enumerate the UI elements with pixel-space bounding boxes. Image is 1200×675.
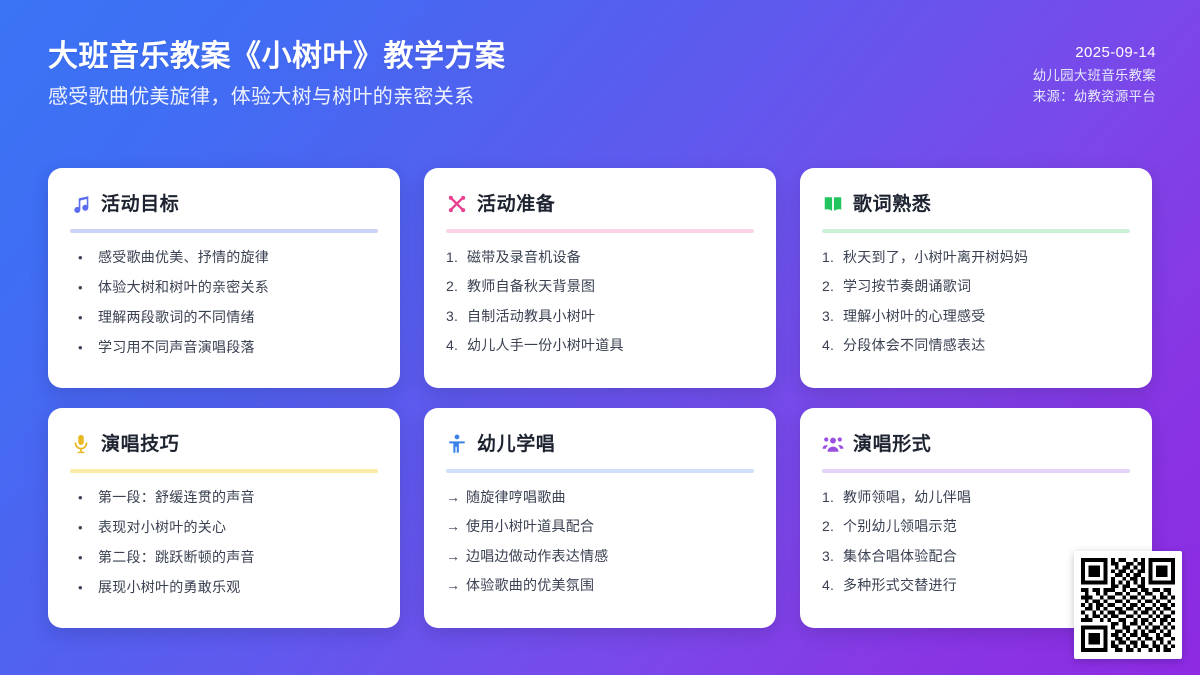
list-item-text: 多种形式交替进行 [843, 575, 957, 595]
card-4: 演唱技巧第一段：舒缓连贯的声音表现对小树叶的关心第二段：跳跃断顿的声音展现小树叶… [48, 408, 400, 628]
child-person-icon [446, 433, 468, 455]
card-header: 歌词熟悉 [822, 190, 1130, 218]
card-title: 活动目标 [101, 195, 179, 214]
card-grid: 活动目标感受歌曲优美、抒情的旋律体验大树和树叶的亲密关系理解两段歌词的不同情绪学… [0, 150, 1200, 675]
list-marker [78, 249, 98, 268]
tools-icon [446, 193, 468, 215]
list-marker [78, 519, 98, 538]
list-marker: 1. [446, 247, 467, 267]
list-item: 3.理解小树叶的心理感受 [822, 306, 1130, 326]
list-marker: → [446, 516, 466, 536]
page-subtitle: 感受歌曲优美旋律，体验大树与树叶的亲密关系 [48, 84, 506, 111]
list-marker [78, 339, 98, 358]
list-item-text: 教师自备秋天背景图 [467, 276, 595, 296]
card-list: 第一段：舒缓连贯的声音表现对小树叶的关心第二段：跳跃断顿的声音展现小树叶的勇敢乐… [70, 487, 378, 597]
card-5: 幼儿学唱→随旋律哼唱歌曲→使用小树叶道具配合→边唱边做动作表达情感→体验歌曲的优… [424, 408, 776, 628]
slide-header: 大班音乐教案《小树叶》教学方案 感受歌曲优美旋律，体验大树与树叶的亲密关系 20… [0, 0, 1200, 150]
list-item-text: 分段体会不同情感表达 [843, 335, 986, 355]
list-item: 理解两段歌词的不同情绪 [70, 307, 378, 328]
list-item-text: 幼儿人手一份小树叶道具 [467, 335, 624, 355]
list-marker [78, 309, 98, 328]
list-marker: 2. [822, 276, 843, 296]
list-item-text: 第二段：跳跃断顿的声音 [98, 547, 255, 567]
list-item-text: 使用小树叶道具配合 [466, 516, 594, 536]
list-item-text: 学习按节奏朗诵歌词 [843, 276, 971, 296]
card-header: 演唱技巧 [70, 430, 378, 458]
microphone-icon [70, 433, 92, 455]
card-title: 幼儿学唱 [477, 435, 555, 454]
list-item-text: 秋天到了，小树叶离开树妈妈 [843, 247, 1028, 267]
list-item-text: 自制活动教具小树叶 [467, 306, 595, 326]
card-header: 活动目标 [70, 190, 378, 218]
list-item-text: 边唱边做动作表达情感 [466, 546, 609, 566]
list-item: 展现小树叶的勇敢乐观 [70, 577, 378, 598]
card-title: 演唱形式 [853, 435, 931, 454]
open-book-icon [822, 193, 844, 215]
list-item: 1.秋天到了，小树叶离开树妈妈 [822, 247, 1130, 267]
list-marker: 3. [822, 306, 843, 326]
list-item: 第一段：舒缓连贯的声音 [70, 487, 378, 508]
list-marker [78, 549, 98, 568]
card-list: 1.秋天到了，小树叶离开树妈妈2.学习按节奏朗诵歌词3.理解小树叶的心理感受4.… [822, 247, 1130, 355]
list-item: 4.分段体会不同情感表达 [822, 335, 1130, 355]
list-marker: → [446, 487, 466, 507]
list-marker: 2. [822, 516, 843, 536]
list-marker: → [446, 546, 466, 566]
header-left: 大班音乐教案《小树叶》教学方案 感受歌曲优美旋律，体验大树与树叶的亲密关系 [48, 38, 506, 111]
card-divider [446, 229, 754, 233]
list-item-text: 表现对小树叶的关心 [98, 517, 226, 537]
list-marker [78, 579, 98, 598]
card-header: 幼儿学唱 [446, 430, 754, 458]
list-marker: 3. [446, 306, 467, 326]
list-item: 感受歌曲优美、抒情的旋律 [70, 247, 378, 268]
list-marker: 1. [822, 487, 843, 507]
list-item-text: 教师领唱，幼儿伴唱 [843, 487, 971, 507]
list-item-text: 学习用不同声音演唱段落 [98, 337, 255, 357]
list-marker [78, 279, 98, 298]
list-item-text: 随旋律哼唱歌曲 [466, 487, 566, 507]
list-item-text: 体验歌曲的优美氛围 [466, 575, 594, 595]
list-item: 学习用不同声音演唱段落 [70, 337, 378, 358]
list-item-text: 理解两段歌词的不同情绪 [98, 307, 255, 327]
list-item: 2.教师自备秋天背景图 [446, 276, 754, 296]
card-divider [822, 469, 1130, 473]
card-title: 演唱技巧 [101, 435, 179, 454]
list-marker: 1. [822, 247, 843, 267]
meta-source: 来源：幼教资源平台 [1033, 86, 1156, 108]
list-item: →随旋律哼唱歌曲 [446, 487, 754, 507]
list-item-text: 展现小树叶的勇敢乐观 [98, 577, 241, 597]
list-item: 第二段：跳跃断顿的声音 [70, 547, 378, 568]
qr-code[interactable] [1074, 551, 1182, 659]
card-divider [446, 469, 754, 473]
slide-root: 大班音乐教案《小树叶》教学方案 感受歌曲优美旋律，体验大树与树叶的亲密关系 20… [0, 0, 1200, 675]
card-divider [70, 229, 378, 233]
list-item: 表现对小树叶的关心 [70, 517, 378, 538]
list-item-text: 个别幼儿领唱示范 [843, 516, 957, 536]
list-item-text: 磁带及录音机设备 [467, 247, 581, 267]
list-item: 2.个别幼儿领唱示范 [822, 516, 1130, 536]
list-marker: 3. [822, 546, 843, 566]
card-title: 歌词熟悉 [853, 195, 931, 214]
list-item: 4.幼儿人手一份小树叶道具 [446, 335, 754, 355]
card-list: 感受歌曲优美、抒情的旋律体验大树和树叶的亲密关系理解两段歌词的不同情绪学习用不同… [70, 247, 378, 357]
list-item: →使用小树叶道具配合 [446, 516, 754, 536]
list-item: 2.学习按节奏朗诵歌词 [822, 276, 1130, 296]
list-marker: 2. [446, 276, 467, 296]
card-list: →随旋律哼唱歌曲→使用小树叶道具配合→边唱边做动作表达情感→体验歌曲的优美氛围 [446, 487, 754, 595]
list-item: →体验歌曲的优美氛围 [446, 575, 754, 595]
list-marker: 4. [822, 335, 843, 355]
meta-date: 2025-09-14 [1075, 42, 1156, 65]
page-title: 大班音乐教案《小树叶》教学方案 [48, 38, 506, 76]
card-1: 活动目标感受歌曲优美、抒情的旋律体验大树和树叶的亲密关系理解两段歌词的不同情绪学… [48, 168, 400, 388]
list-item: 体验大树和树叶的亲密关系 [70, 277, 378, 298]
list-item: 1.教师领唱，幼儿伴唱 [822, 487, 1130, 507]
card-2: 活动准备1.磁带及录音机设备2.教师自备秋天背景图3.自制活动教具小树叶4.幼儿… [424, 168, 776, 388]
list-marker: 4. [822, 575, 843, 595]
card-title: 活动准备 [477, 195, 555, 214]
list-item-text: 理解小树叶的心理感受 [843, 306, 986, 326]
people-group-icon [822, 433, 844, 455]
meta-category: 幼儿园大班音乐教案 [1033, 65, 1156, 87]
list-item-text: 感受歌曲优美、抒情的旋律 [98, 247, 269, 267]
card-divider [822, 229, 1130, 233]
list-item-text: 集体合唱体验配合 [843, 546, 957, 566]
card-list: 1.磁带及录音机设备2.教师自备秋天背景图3.自制活动教具小树叶4.幼儿人手一份… [446, 247, 754, 355]
list-item: 1.磁带及录音机设备 [446, 247, 754, 267]
list-item: 3.自制活动教具小树叶 [446, 306, 754, 326]
list-item-text: 体验大树和树叶的亲密关系 [98, 277, 269, 297]
card-3: 歌词熟悉1.秋天到了，小树叶离开树妈妈2.学习按节奏朗诵歌词3.理解小树叶的心理… [800, 168, 1152, 388]
list-marker [78, 489, 98, 508]
list-item-text: 第一段：舒缓连贯的声音 [98, 487, 255, 507]
list-marker: → [446, 575, 466, 595]
list-marker: 4. [446, 335, 467, 355]
card-header: 演唱形式 [822, 430, 1130, 458]
header-meta: 2025-09-14 幼儿园大班音乐教案 来源：幼教资源平台 [1033, 38, 1156, 108]
list-item: →边唱边做动作表达情感 [446, 546, 754, 566]
card-header: 活动准备 [446, 190, 754, 218]
music-note-icon [70, 193, 92, 215]
card-divider [70, 469, 378, 473]
